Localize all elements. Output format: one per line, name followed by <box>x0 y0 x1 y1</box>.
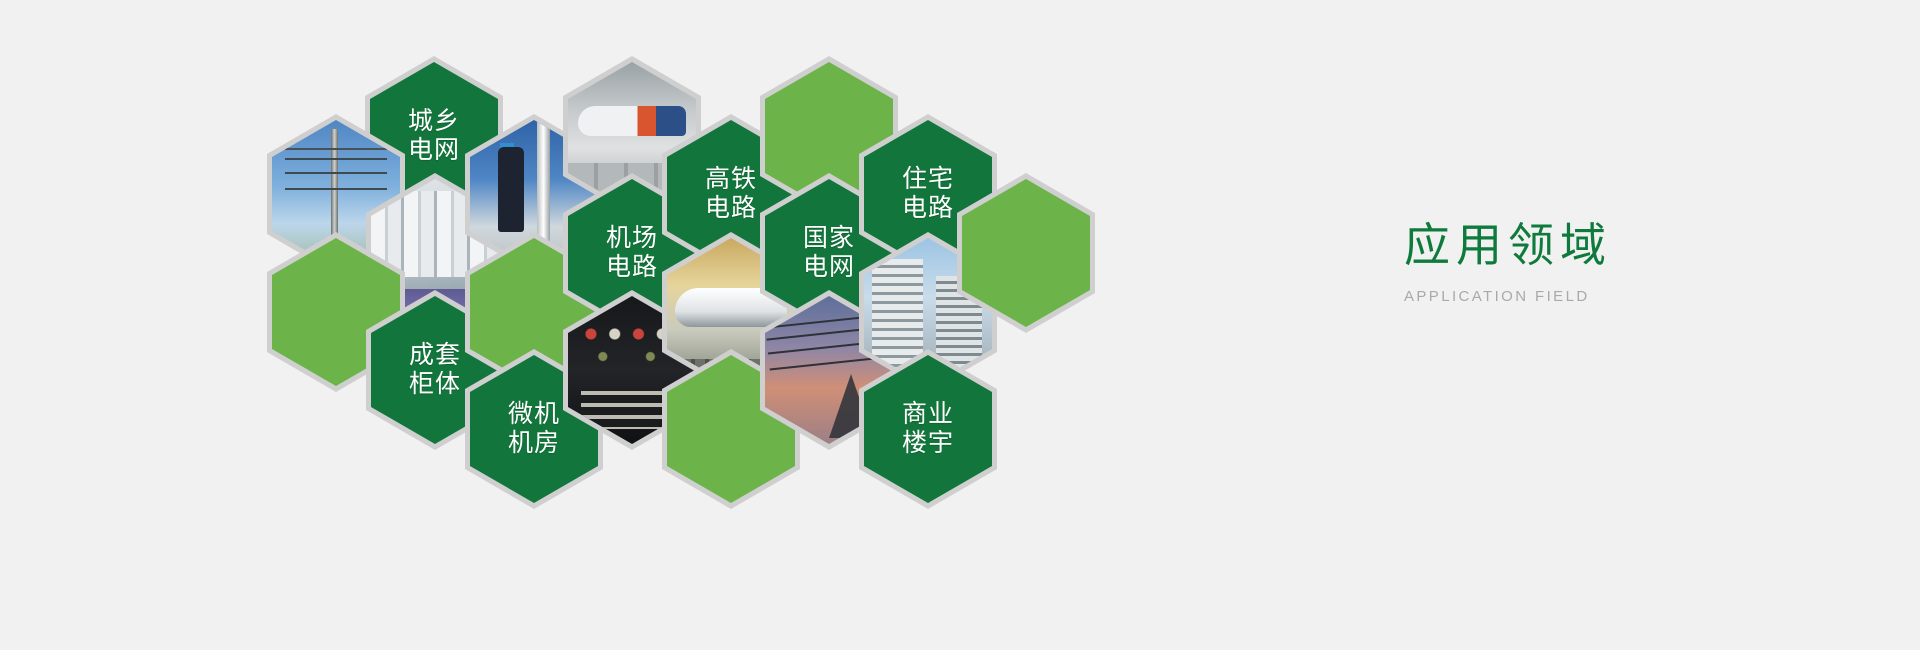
hex-cell-commercial[interactable]: 商业 楼宇 <box>864 355 992 503</box>
hex-label-airport-circuit: 机场 电路 <box>606 224 658 282</box>
page-title: 应用领域 <box>1404 222 1824 268</box>
hex-label-commercial: 商业 楼宇 <box>902 400 954 458</box>
hex-label-residential: 住宅 电路 <box>902 165 954 223</box>
heading-block: 应用领域 APPLICATION FIELD <box>1404 222 1824 305</box>
hex-label-complete-cabinet: 成套 柜体 <box>409 341 461 399</box>
application-field-banner: 城乡 电网成套 柜体微机 机房机场 电路高铁 电路国家 电网住宅 电路商业 楼宇 <box>0 0 1920 650</box>
hex-label-hsr-circuit: 高铁 电路 <box>705 165 757 223</box>
hex-label-urban-rural-grid: 城乡 电网 <box>408 107 460 165</box>
page-subtitle: APPLICATION FIELD <box>1404 288 1824 305</box>
hex-label-microcomputer-room: 微机 机房 <box>508 400 560 458</box>
hex-label-state-grid: 国家 电网 <box>803 224 855 282</box>
hex-cell-accent-right-edge[interactable] <box>962 179 1090 327</box>
